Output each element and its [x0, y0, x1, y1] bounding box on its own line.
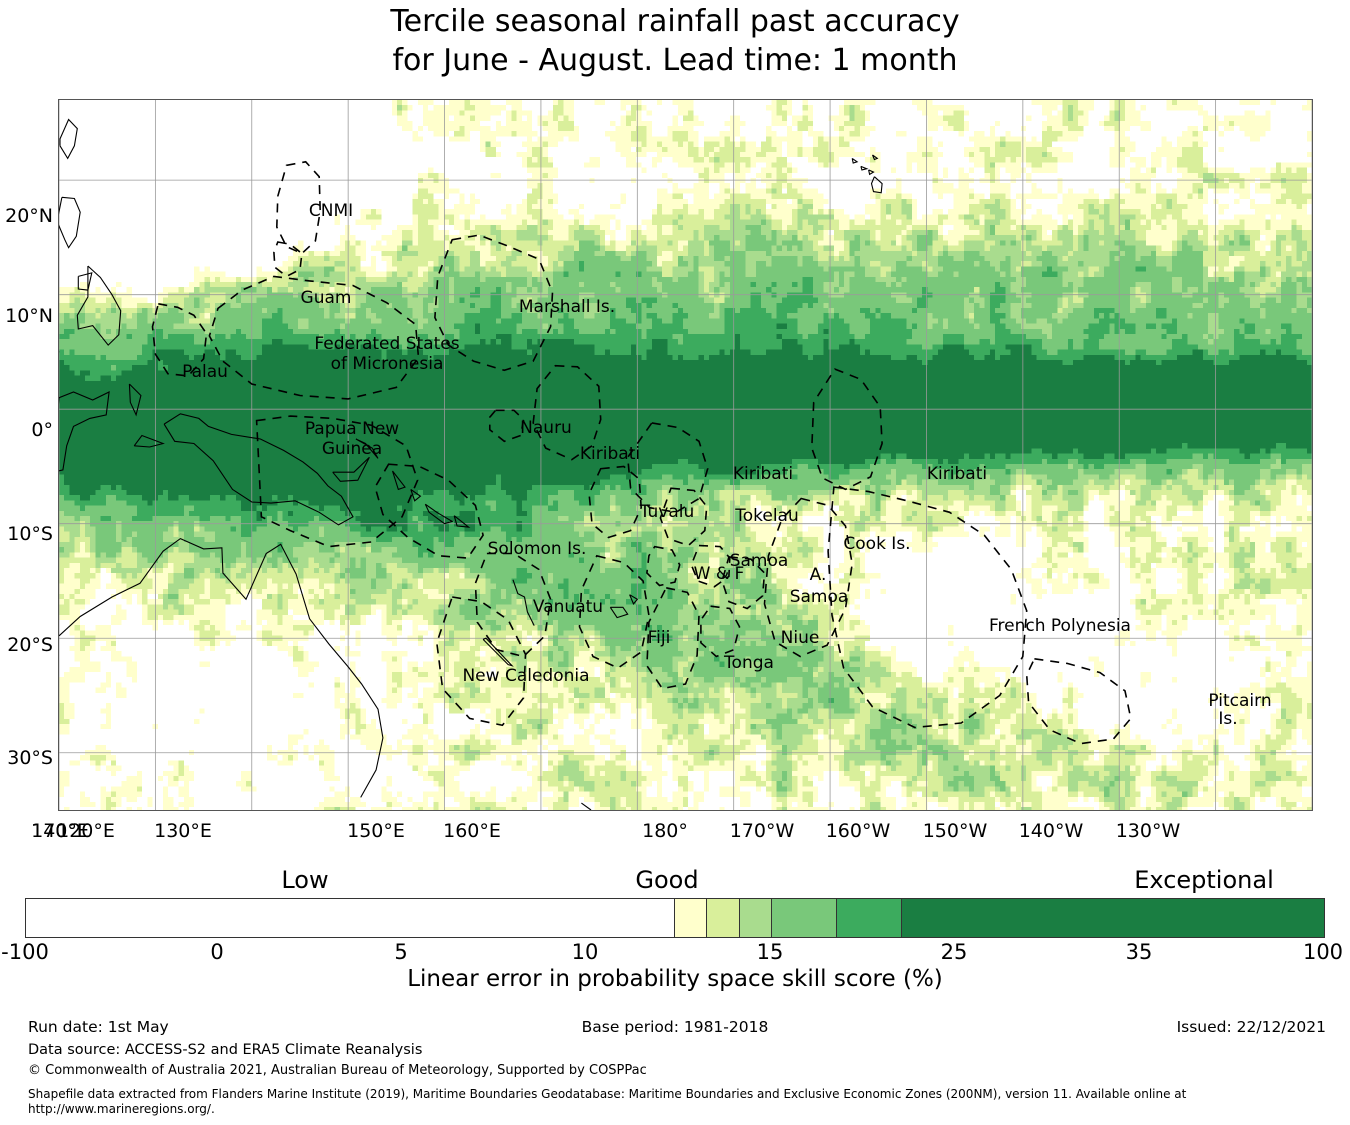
footer-base-period: Base period: 1981-2018 — [0, 1018, 1350, 1036]
map-label: Palau — [182, 362, 228, 382]
map-label: Niue — [781, 628, 820, 648]
skill-score-field — [59, 100, 1312, 810]
map-label: CNMI — [309, 201, 353, 221]
map-canvas: CNMIGuamPalauFederated Statesof Micrones… — [59, 100, 1312, 810]
footer-shapefile: Shapefile data extracted from Flanders M… — [28, 1087, 1278, 1117]
map-label: Federated States — [314, 334, 459, 354]
colorbar-axis-label: Linear error in probability space skill … — [0, 966, 1350, 992]
cbtick-5: 5 — [341, 940, 461, 964]
map-label: Kiribati — [927, 464, 987, 484]
footer-copyright: © Commonwealth of Australia 2021, Austra… — [28, 1063, 647, 1078]
map-label: Guam — [301, 288, 352, 308]
map-label: A. — [810, 565, 827, 585]
ytick-10N: 10°N — [0, 305, 53, 327]
cbtick-100: 100 — [1263, 940, 1350, 964]
map-label: Solomon Is. — [488, 539, 587, 559]
colorbar-segment-6 — [902, 899, 1324, 937]
map-label: Pitcairn — [1208, 691, 1271, 711]
footer-issued: Issued: 22/12/2021 — [1177, 1018, 1326, 1036]
cbtick-10: 10 — [525, 940, 645, 964]
map-label: Cook Is. — [843, 534, 910, 554]
ytick-30S: 30°S — [0, 747, 53, 769]
ytick-0: 0° — [0, 419, 53, 441]
map-label: Tuvalu — [639, 502, 695, 522]
ytick-20N: 20°N — [0, 205, 53, 227]
map-plot-area[interactable]: CNMIGuamPalauFederated Statesof Micrones… — [58, 99, 1313, 811]
colorbar-segment-2 — [707, 899, 739, 937]
xtick-130E: 130°E — [123, 820, 243, 842]
xtick-130W: 130°W — [1088, 820, 1208, 842]
cbtick--100: -100 — [0, 940, 85, 964]
map-label: New Caledonia — [462, 666, 589, 686]
xtick-160E: 160°E — [412, 820, 532, 842]
cbtick-15: 15 — [710, 940, 830, 964]
map-label: French Polynesia — [989, 616, 1131, 636]
map-label: Tokelau — [734, 506, 799, 526]
map-label: Kiribati — [580, 444, 640, 464]
ytick-10S: 10°S — [0, 523, 53, 545]
chart-title: Tercile seasonal rainfall past accuracy … — [0, 0, 1350, 80]
map-label: Nauru — [520, 418, 572, 438]
map-label: Fiji — [648, 628, 671, 648]
map-label: Kiribati — [733, 464, 793, 484]
map-label: Guinea — [322, 439, 382, 459]
colorbar-gradient — [25, 898, 1325, 938]
colorbar-segment-5 — [837, 899, 902, 937]
cat-label-good: Good — [537, 866, 797, 894]
cat-label-exceptional: Exceptional — [1074, 866, 1334, 894]
colorbar[interactable] — [25, 898, 1325, 938]
map-label: of Micronesia — [331, 354, 444, 374]
colorbar-segment-0 — [26, 899, 675, 937]
cbtick-0: 0 — [157, 940, 277, 964]
title-line-1: Tercile seasonal rainfall past accuracy — [0, 2, 1350, 41]
xtick-170E: 170°E — [0, 820, 120, 842]
map-label: Marshall Is. — [519, 297, 615, 317]
map-label: Tonga — [723, 653, 774, 673]
cbtick-35: 35 — [1079, 940, 1199, 964]
cat-label-low: Low — [175, 866, 435, 894]
cbtick-25: 25 — [894, 940, 1014, 964]
footer-data-source: Data source: ACCESS-S2 and ERA5 Climate … — [28, 1042, 422, 1058]
colorbar-segment-3 — [740, 899, 772, 937]
colorbar-segment-1 — [675, 899, 707, 937]
map-label: Is. — [1218, 709, 1237, 729]
title-line-2: for June - August. Lead time: 1 month — [0, 41, 1350, 80]
map-label: Samoa — [790, 587, 849, 607]
map-label: Papua New — [305, 419, 399, 439]
colorbar-segment-4 — [772, 899, 837, 937]
map-label: W & F — [694, 564, 745, 584]
map-label: Vanuatu — [533, 597, 603, 617]
ytick-20S: 20°S — [0, 634, 53, 656]
